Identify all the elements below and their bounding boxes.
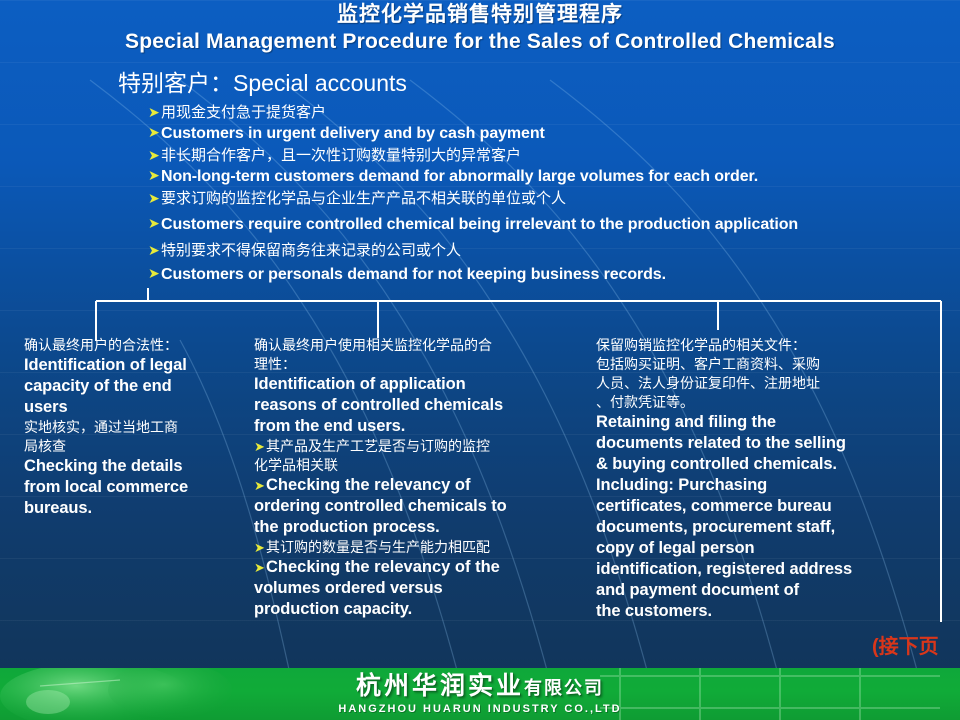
column-line-english: from local commerce [24,477,240,498]
bullet-item: ➤Customers or personals demand for not k… [148,264,960,286]
column-line-english: users [24,397,240,418]
chevron-right-icon: ➤ [148,103,161,122]
column-sub-bullet: ➤其订购的数量是否与生产能力相匹配 [254,538,584,557]
column-application-reasons: 确认最终用户使用相关监控化学品的合理性：Identification of ap… [254,336,584,620]
bullet-item: ➤用现金支付急于提货客户 [148,103,960,122]
slide-root: 监控化学品销售特别管理程序 Special Management Procedu… [0,0,960,720]
column-line-english: documents, procurement staff, [596,517,912,538]
bullet-item: ➤Customers in urgent delivery and by cas… [148,123,960,145]
column-line-english: ordering controlled chemicals to [254,496,584,517]
bullet-text: Non-long-term customers demand for abnor… [161,166,960,188]
chevron-right-icon: ➤ [148,123,161,142]
column-line-chinese: 保留购销监控化学品的相关文件： [596,336,912,355]
column-line-english: the customers. [596,601,912,622]
section-heading: 特别客户：Special accounts [118,68,407,98]
column-line-english: the production process. [254,517,584,538]
column-line-english: reasons of controlled chemicals [254,395,584,416]
column-line-chinese: 、付款凭证等。 [596,393,912,412]
column-line-english: certificates, commerce bureau [596,496,912,517]
column-sub-bullet-text: 其订购的数量是否与生产能力相匹配 [266,538,584,557]
column-line-english: documents related to the selling [596,433,912,454]
chevron-right-icon: ➤ [148,189,161,208]
column-line-english: from the end users. [254,416,584,437]
column-line-chinese: 确认最终用户使用相关监控化学品的合 [254,336,584,355]
column-line-chinese: 人员、法人身份证复印件、注册地址 [596,374,912,393]
company-name-chinese-main: 杭州华润实业 [356,672,524,700]
continuation-note: (接下页 [872,630,939,659]
page-title-chinese: 监控化学品销售特别管理程序 [0,2,960,28]
bullet-item: ➤Customers require controlled chemical b… [148,214,960,236]
column-line-english: Including: Purchasing [596,475,912,496]
column-legal-capacity: 确认最终用户的合法性：Identification of legalcapaci… [24,336,240,519]
title-block: 监控化学品销售特别管理程序 Special Management Procedu… [0,2,960,56]
chevron-right-icon: ➤ [148,241,161,260]
column-line-english: Checking the details [24,456,240,477]
chevron-right-icon: ➤ [148,146,161,165]
column-sub-bullet: ➤Checking the relevancy of the [254,557,584,578]
chevron-right-icon: ➤ [254,538,266,557]
company-name-chinese: 杭州华润实业有限公司 [356,672,604,702]
chevron-right-icon: ➤ [148,214,161,233]
bullet-item: ➤Non-long-term customers demand for abno… [148,166,960,188]
column-line-english: bureaus. [24,498,240,519]
bullet-text: 用现金支付急于提货客户 [161,103,960,122]
column-document-retention: 保留购销监控化学品的相关文件：包括购买证明、客户工商资料、采购人员、法人身份证复… [596,336,912,622]
bullet-text: 要求订购的监控化学品与企业生产产品不相关联的单位或个人 [161,189,960,208]
column-line-chinese: 确认最终用户的合法性： [24,336,240,355]
column-line-english: and payment document of [596,580,912,601]
column-sub-bullet-text: Checking the relevancy of the [266,557,584,578]
bullet-item: ➤非长期合作客户，且一次性订购数量特别大的异常客户 [148,146,960,165]
column-line-english: capacity of the end [24,376,240,397]
bullet-text: 特别要求不得保留商务往来记录的公司或个人 [161,241,960,260]
column-line-english: Identification of legal [24,355,240,376]
special-accounts-bullet-list: ➤用现金支付急于提货客户➤Customers in urgent deliver… [148,103,960,287]
footer-text-block: 杭州华润实业有限公司 HANGZHOU HUARUN INDUSTRY CO.,… [0,668,960,720]
bullet-text: Customers in urgent delivery and by cash… [161,123,960,145]
column-line-chinese: 包括购买证明、客户工商资料、采购 [596,355,912,374]
column-line-english: volumes ordered versus [254,578,584,599]
bullet-item: ➤特别要求不得保留商务往来记录的公司或个人 [148,241,960,260]
column-line-chinese: 实地核实，通过当地工商 [24,418,240,437]
column-sub-bullet: ➤其产品及生产工艺是否与订购的监控 [254,437,584,456]
column-line-english: & buying controlled chemicals. [596,454,912,475]
chevron-right-icon: ➤ [254,475,266,496]
column-line-english: Retaining and filing the [596,412,912,433]
chevron-right-icon: ➤ [254,437,266,456]
company-name-chinese-suffix: 有限公司 [524,678,604,698]
page-title-english: Special Management Procedure for the Sal… [0,28,960,56]
column-line-chinese: 局核查 [24,437,240,456]
columns-container: 确认最终用户的合法性：Identification of legalcapaci… [0,336,960,666]
chevron-right-icon: ➤ [148,264,161,283]
chevron-right-icon: ➤ [254,557,266,578]
chevron-right-icon: ➤ [148,166,161,185]
column-sub-bullet-text: Checking the relevancy of [266,475,584,496]
footer-banner: 杭州华润实业有限公司 HANGZHOU HUARUN INDUSTRY CO.,… [0,668,960,720]
column-line-english: copy of legal person [596,538,912,559]
column-line-english: identification, registered address [596,559,912,580]
company-name-english: HANGZHOU HUARUN INDUSTRY CO.,LTD [338,702,621,716]
bullet-item: ➤要求订购的监控化学品与企业生产产品不相关联的单位或个人 [148,189,960,208]
column-line-chinese: 理性： [254,355,584,374]
bullet-text: Customers or personals demand for not ke… [161,264,960,286]
bullet-text: Customers require controlled chemical be… [161,214,960,236]
column-line-chinese: 化学品相关联 [254,456,584,475]
column-line-english: Identification of application [254,374,584,395]
bullet-text: 非长期合作客户，且一次性订购数量特别大的异常客户 [161,146,960,165]
column-sub-bullet-text: 其产品及生产工艺是否与订购的监控 [266,437,584,456]
column-line-english: production capacity. [254,599,584,620]
column-sub-bullet: ➤Checking the relevancy of [254,475,584,496]
